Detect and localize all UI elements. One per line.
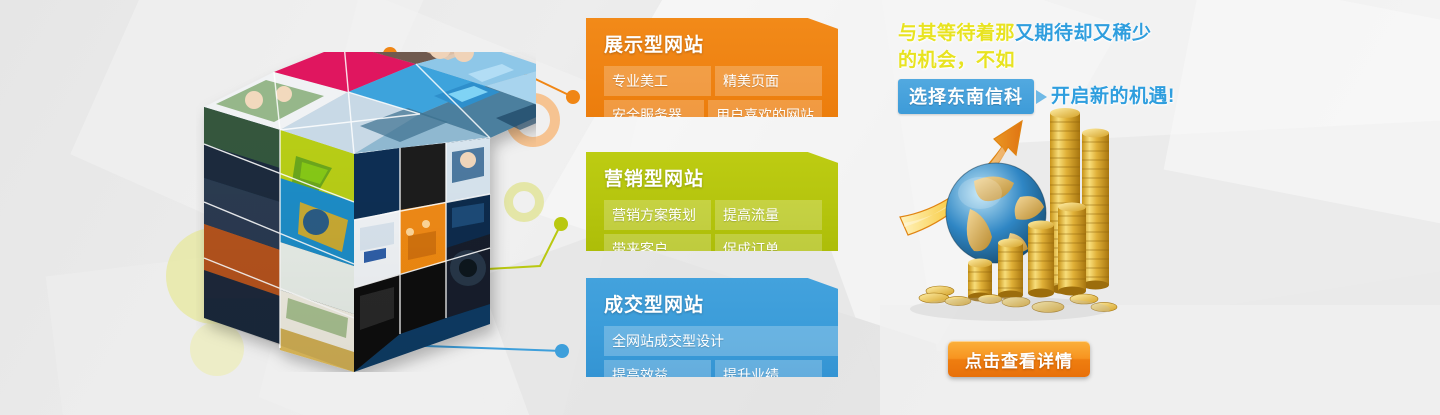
background-facet [1164, 0, 1440, 227]
card-tag-row: 全网站成交型设计 [604, 326, 822, 356]
card-tag[interactable]: 安全服务器 [604, 100, 704, 130]
card-tag[interactable]: 提高效益 [604, 360, 711, 390]
card-tag[interactable]: 带来客户 [604, 234, 711, 264]
card-conversion-website[interactable]: 成交型网站 全网站成交型设计 提高效益 提升业绩 [586, 278, 838, 377]
card-showcase-website[interactable]: 展示型网站 专业美工 精美页面 安全服务器 用户喜欢的网站 [586, 18, 838, 117]
card-tag-row: 安全服务器 用户喜欢的网站 [604, 100, 822, 130]
card-marketing-website[interactable]: 营销型网站 营销方案策划 提高流量 带来客户 促成订单 [586, 152, 838, 251]
card-tag[interactable]: 促成订单 [715, 234, 822, 264]
card-tag-row: 营销方案策划 提高流量 [604, 200, 822, 230]
cube-icon [196, 52, 536, 372]
card-tag[interactable]: 营销方案策划 [604, 200, 711, 230]
coins-icon [898, 95, 1128, 335]
card-tag[interactable]: 专业美工 [604, 66, 711, 96]
card-tag-row: 带来客户 促成订单 [604, 234, 822, 264]
card-tag[interactable]: 精美页面 [715, 66, 822, 96]
promo-banner: 展示型网站 专业美工 精美页面 安全服务器 用户喜欢的网站 营销型网站 营销方案… [0, 0, 1440, 415]
website-cube-graphic [196, 52, 536, 372]
headline-line-1: 与其等待着那又期待却又稀少 [898, 20, 1198, 47]
globe-coins-graphic [898, 95, 1128, 335]
card-title: 展示型网站 [604, 30, 822, 57]
headline-line-1-yellow: 与其等待着那 [898, 23, 1015, 44]
card-tag-row: 专业美工 精美页面 [604, 66, 822, 96]
view-details-button[interactable]: 点击查看详情 [948, 341, 1090, 377]
card-tag[interactable]: 用户喜欢的网站 [708, 100, 822, 130]
card-pointer-icon [569, 180, 586, 212]
card-tag[interactable]: 提升业绩 [715, 360, 822, 390]
card-tag[interactable]: 全网站成交型设计 [604, 326, 838, 356]
card-pointer-icon [569, 312, 586, 344]
headline-line-2: 的机会，不如 [898, 47, 1198, 74]
card-title: 成交型网站 [604, 290, 822, 317]
card-title: 营销型网站 [604, 164, 822, 191]
card-tag-row: 提高效益 提升业绩 [604, 360, 822, 390]
headline-line-1-blue: 又期待却又稀少 [1015, 23, 1152, 44]
card-tag[interactable]: 提高流量 [715, 200, 822, 230]
card-pointer-icon [569, 46, 586, 78]
